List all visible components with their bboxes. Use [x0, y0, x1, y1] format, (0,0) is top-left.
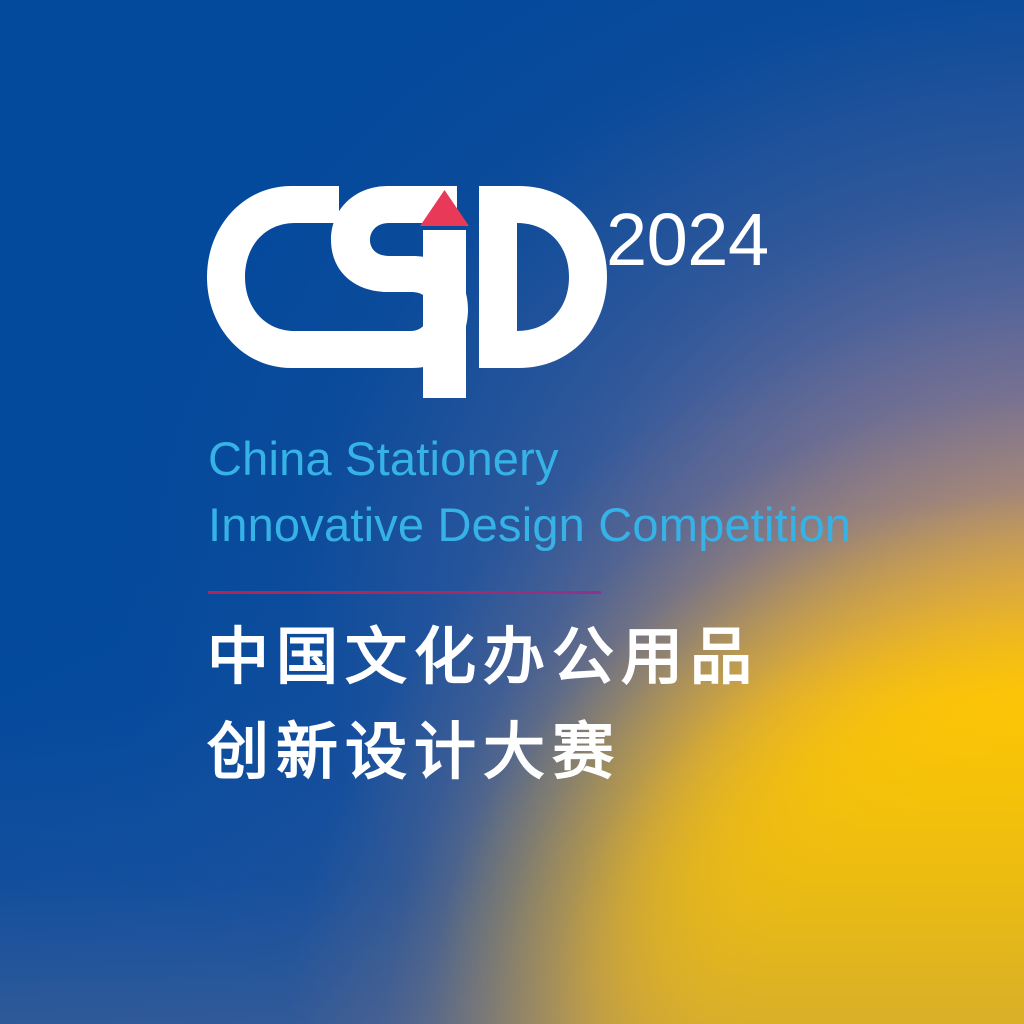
chinese-title-line-1: 中国文化办公用品 [207, 627, 759, 689]
poster-canvas: 2024 China Stationery Innovative Design … [0, 0, 1024, 1024]
english-title-line-2: Innovative Design Competition [208, 501, 851, 548]
letter-c-icon [207, 186, 339, 368]
letter-d-icon [479, 186, 607, 368]
divider-rule [208, 591, 601, 594]
csid-wordmark [207, 186, 607, 398]
poster-content: 2024 China Stationery Innovative Design … [207, 0, 1024, 1024]
letter-i-pencil-icon [420, 190, 469, 398]
english-title-line-1: China Stationery [208, 435, 559, 482]
chinese-title-line-2: 创新设计大赛 [207, 722, 621, 784]
logo-year: 2024 [606, 203, 769, 277]
csid-logo-lockup: 2024 [207, 186, 807, 401]
